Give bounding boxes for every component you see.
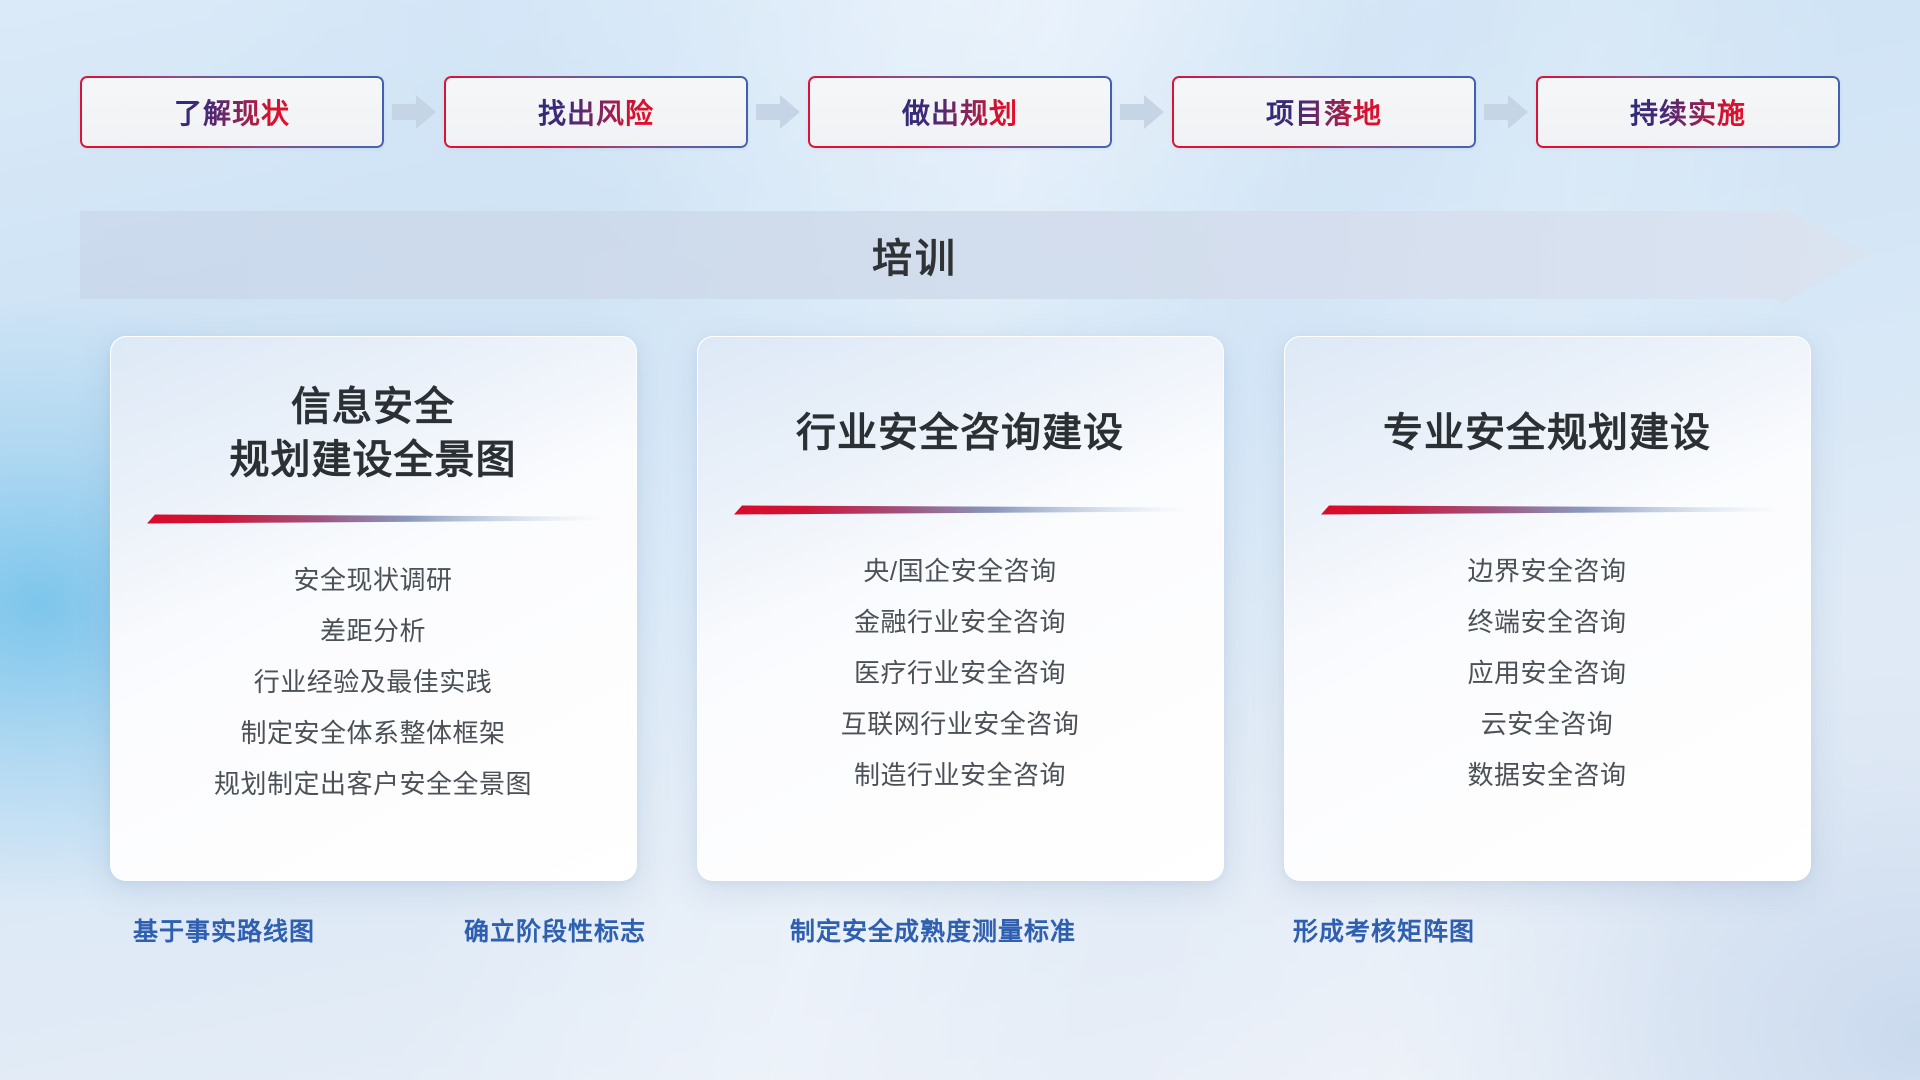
step-arrow-icon-1 — [748, 76, 808, 148]
step-label: 做出规划 — [902, 92, 1018, 132]
list-item: 制定安全体系整体框架 — [240, 708, 505, 759]
list-item: 制造行业安全咨询 — [854, 750, 1066, 801]
training-banner-label: 培训 — [0, 205, 1830, 305]
caption-0: 基于事实路线图 — [133, 912, 315, 948]
slide-canvas: 了解现状 找出风险 做出规划 项目落地 持续实施 — [0, 0, 1920, 1080]
service-card-1[interactable]: 行业安全咨询建设 — [697, 336, 1224, 881]
step-box-2[interactable]: 做出规划 — [808, 76, 1112, 148]
list-item: 云安全咨询 — [1481, 699, 1614, 750]
list-item: 央/国企安全咨询 — [863, 546, 1056, 597]
step-box-0[interactable]: 了解现状 — [80, 76, 384, 148]
caption-1: 确立阶段性标志 — [464, 912, 646, 948]
list-item: 应用安全咨询 — [1467, 648, 1626, 699]
gradient-divider-icon — [147, 513, 599, 525]
list-item: 边界安全咨询 — [1467, 546, 1626, 597]
service-card-0[interactable]: 信息安全 规划建设全景图 — [110, 336, 637, 881]
card-list: 央/国企安全咨询 金融行业安全咨询 医疗行业安全咨询 互联网行业安全咨询 制造行… — [841, 546, 1080, 801]
step-arrow-icon-0 — [384, 76, 444, 148]
card-title: 信息安全 规划建设全景图 — [230, 381, 517, 487]
card-title: 行业安全咨询建设 — [796, 407, 1124, 460]
list-item: 互联网行业安全咨询 — [841, 699, 1080, 750]
list-item: 安全现状调研 — [293, 555, 452, 606]
caption-2: 制定安全成熟度测量标准 — [790, 912, 1076, 948]
step-label: 找出风险 — [538, 92, 654, 132]
list-item: 差距分析 — [320, 606, 426, 657]
gradient-divider-icon — [734, 504, 1186, 516]
list-item: 医疗行业安全咨询 — [854, 648, 1066, 699]
card-list: 安全现状调研 差距分析 行业经验及最佳实践 制定安全体系整体框架 规划制定出客户… — [214, 555, 532, 810]
card-row: 信息安全 规划建设全景图 — [0, 336, 1920, 881]
step-label: 持续实施 — [1630, 92, 1746, 132]
step-box-1[interactable]: 找出风险 — [444, 76, 748, 148]
step-box-4[interactable]: 持续实施 — [1536, 76, 1840, 148]
caption-3: 形成考核矩阵图 — [1293, 912, 1475, 948]
step-label: 了解现状 — [174, 92, 290, 132]
list-item: 终端安全咨询 — [1467, 597, 1626, 648]
process-step-row: 了解现状 找出风险 做出规划 项目落地 持续实施 — [0, 76, 1920, 148]
service-card-2[interactable]: 专业安全规划建设 — [1284, 336, 1811, 881]
card-list: 边界安全咨询 终端安全咨询 应用安全咨询 云安全咨询 数据安全咨询 — [1467, 546, 1626, 801]
step-arrow-icon-2 — [1112, 76, 1172, 148]
list-item: 金融行业安全咨询 — [854, 597, 1066, 648]
list-item: 行业经验及最佳实践 — [254, 657, 493, 708]
step-arrow-icon-3 — [1476, 76, 1536, 148]
gradient-divider-icon — [1321, 504, 1773, 516]
card-title: 专业安全规划建设 — [1383, 407, 1711, 460]
list-item: 数据安全咨询 — [1467, 750, 1626, 801]
step-box-3[interactable]: 项目落地 — [1172, 76, 1476, 148]
caption-row: 基于事实路线图 确立阶段性标志 制定安全成熟度测量标准 形成考核矩阵图 — [0, 912, 1920, 952]
list-item: 规划制定出客户安全全景图 — [214, 759, 532, 810]
step-label: 项目落地 — [1266, 92, 1382, 132]
